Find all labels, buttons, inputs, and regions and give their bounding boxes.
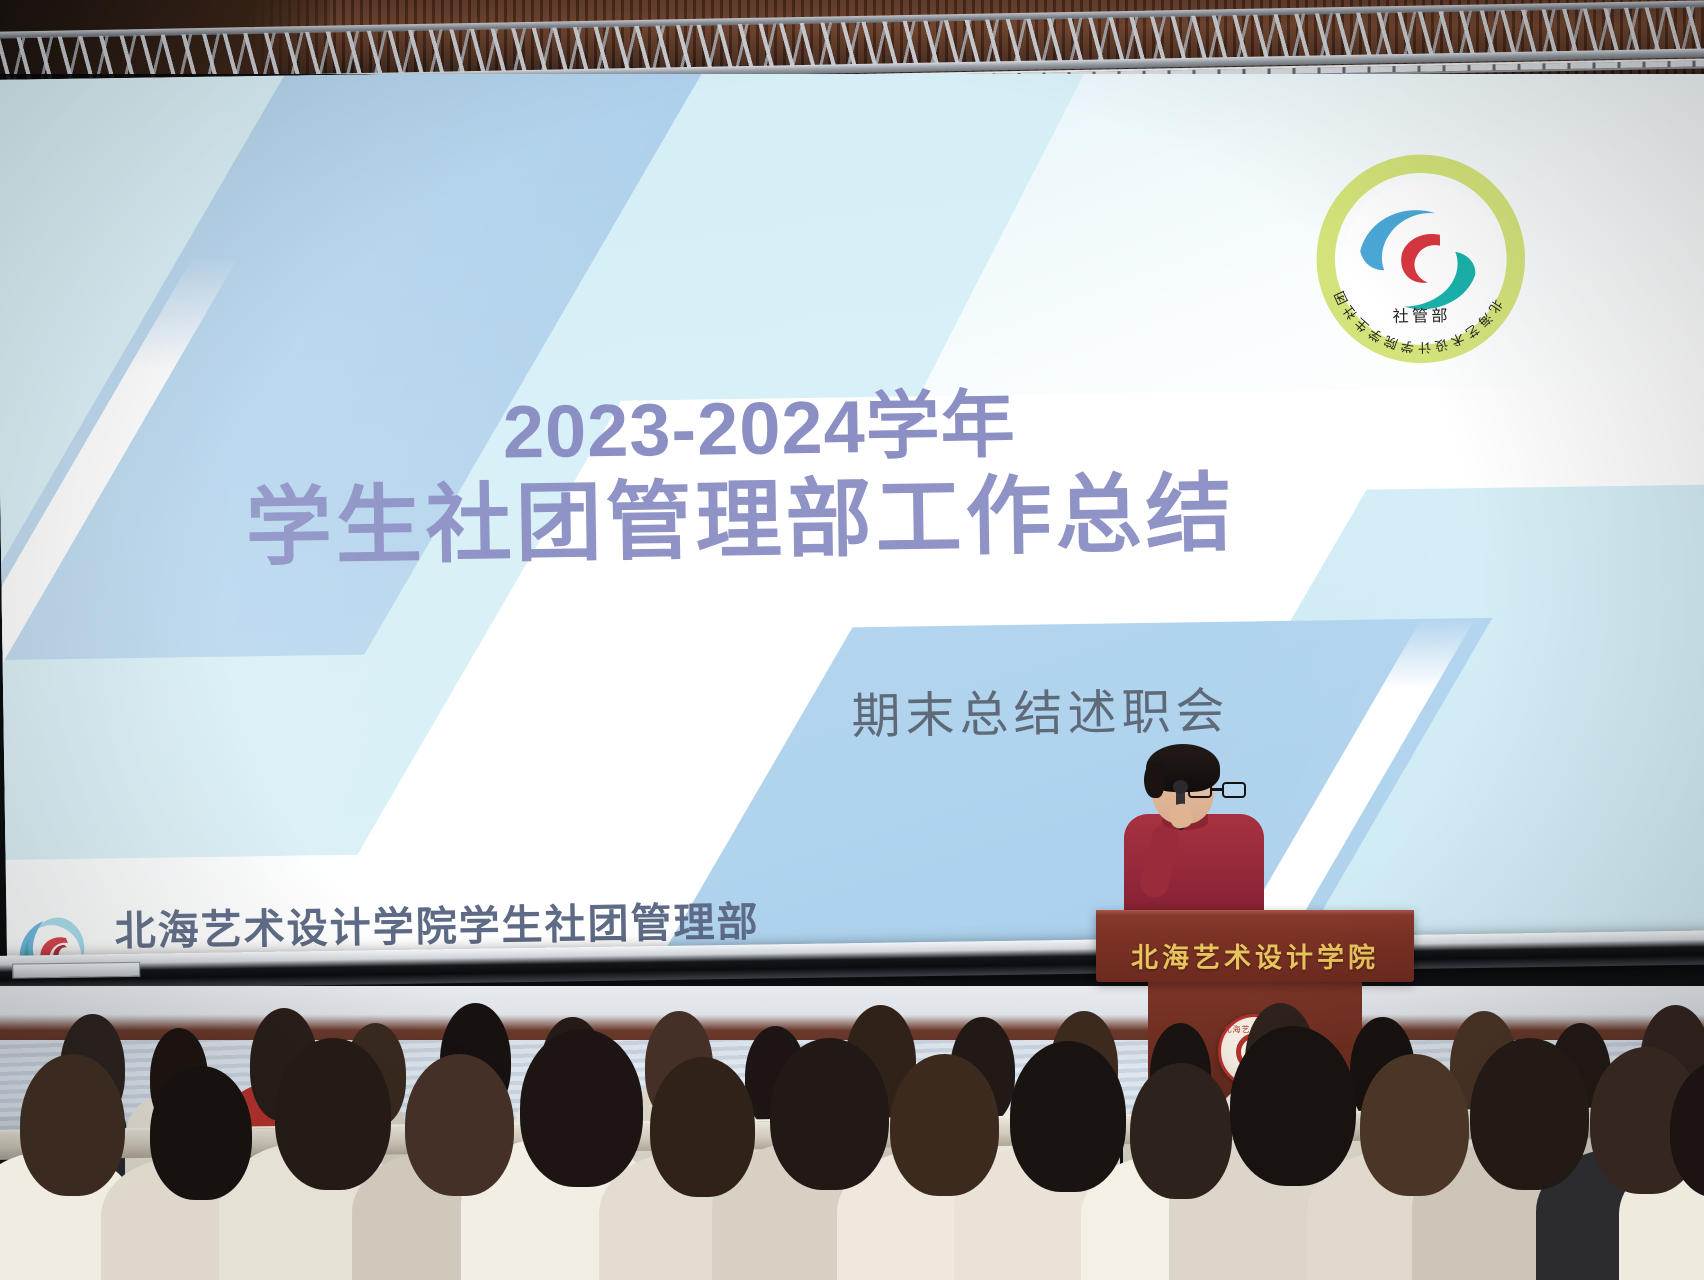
auditorium-scene: 2023-2024学年 学生社团管理部工作总结 期末总结述职会: [0, 0, 1704, 1280]
projection-screen: 2023-2024学年 学生社团管理部工作总结 期末总结述职会: [0, 74, 1704, 976]
podium-sign-text: 北海艺术设计学院: [1096, 936, 1414, 975]
audience-head: [1130, 1063, 1232, 1200]
presenter: [1118, 752, 1268, 922]
audience-head: [1230, 1026, 1356, 1186]
audience-head: [1360, 1054, 1469, 1197]
podium-front-panel: 北海艺术设计学院: [1096, 910, 1414, 982]
audience-head: [405, 1054, 514, 1197]
audience-head: [150, 1066, 252, 1201]
audience-head: [275, 1038, 391, 1190]
presenter-hair-side: [1144, 762, 1164, 798]
emblem-center-text: 社管部: [1392, 307, 1451, 326]
audience-head: [520, 1029, 643, 1187]
student-club-department-emblem-icon: 北海艺术设计学院学生社团 社管部: [1311, 149, 1530, 368]
audience-head: [650, 1057, 755, 1198]
audience-head: [770, 1038, 889, 1190]
audience-head: [1470, 1038, 1589, 1190]
audience-head: [890, 1054, 999, 1197]
slide-title-year: 2023-2024学年: [189, 380, 1330, 477]
slide-title-main: 学生社团管理部工作总结: [150, 464, 1331, 578]
audience-head: [1010, 1041, 1126, 1191]
slide-title-block: 2023-2024学年 学生社团管理部工作总结: [149, 380, 1332, 578]
projection-screen-area: 2023-2024学年 学生社团管理部工作总结 期末总结述职会: [0, 74, 1704, 984]
audience-head: [20, 1054, 125, 1197]
screen-label-plate: [12, 962, 140, 979]
